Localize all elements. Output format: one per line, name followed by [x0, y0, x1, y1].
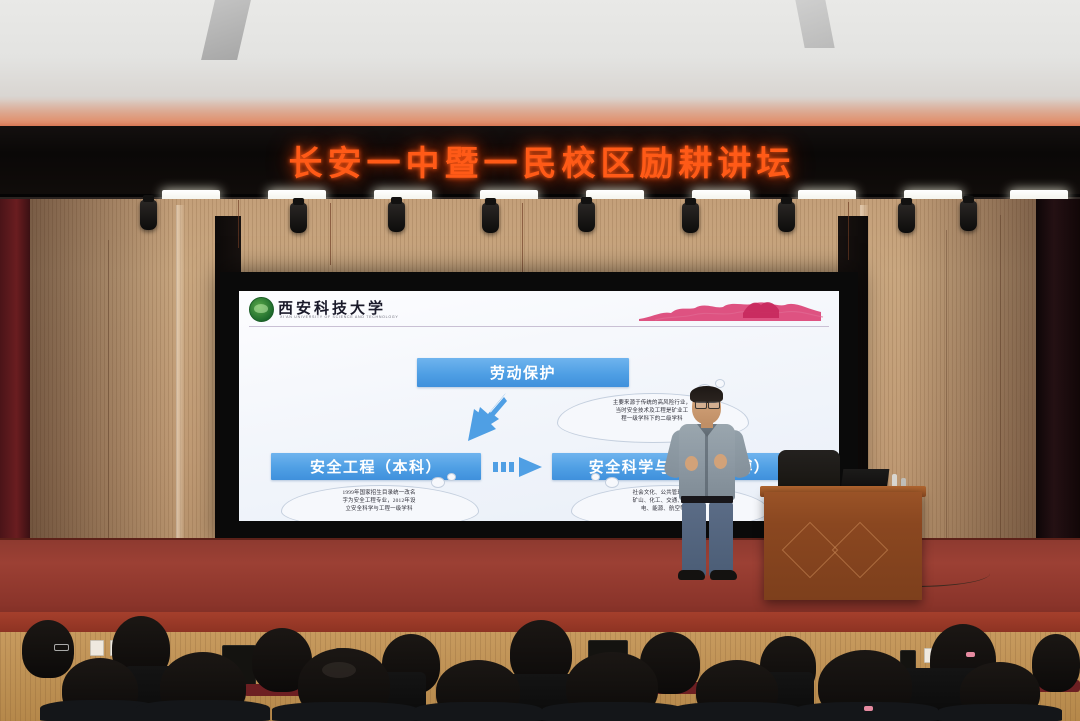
presentation-slide: 西安科技大学 XI'AN UNIVERSITY OF SCIENCE AND T…	[239, 291, 839, 521]
callout-line: 字为安全工程专业，2012年设	[291, 498, 467, 506]
eyeglasses-icon	[708, 401, 720, 409]
led-banner: 长安一中暨一民校区励耕讲坛	[0, 126, 1080, 197]
callout-lower-left: 1999年国家招生目录统一改名 字为安全工程专业，2012年设 立安全科学与工程…	[281, 485, 477, 521]
ceiling-light-glow	[0, 96, 1080, 130]
ceiling-vent-icon	[201, 0, 251, 60]
speaker-shirt-placket	[705, 432, 708, 498]
header-divider	[249, 326, 829, 327]
speaker-hand-left	[685, 456, 698, 471]
university-subtitle: XI'AN UNIVERSITY OF SCIENCE AND TECHNOLO…	[280, 315, 398, 319]
ceiling-vent-icon	[795, 0, 834, 48]
wall-switch-plate	[90, 640, 104, 656]
down-left-arrow-icon	[460, 391, 512, 447]
audience-head	[1032, 634, 1080, 692]
audience-shoulders	[136, 700, 270, 721]
audience-shoulders	[672, 702, 802, 721]
mountain-decoration-icon	[635, 297, 825, 325]
led-banner-text: 长安一中暨一民校区励耕讲坛	[289, 136, 796, 185]
speaker-shoe-left	[678, 570, 705, 580]
eyeglasses-icon	[54, 644, 69, 651]
audience-shoulders	[542, 702, 684, 721]
speaker-leg-left	[682, 502, 706, 576]
chevron-right-arrow-icon	[492, 456, 548, 478]
speaker-hand-right	[714, 454, 727, 469]
university-logo-icon	[249, 297, 274, 322]
audience-shoulders	[272, 702, 418, 721]
audience-shoulders	[414, 702, 542, 721]
slide-header: 西安科技大学 XI'AN UNIVERSITY OF SCIENCE AND T…	[239, 291, 839, 325]
audience-shoulders	[794, 702, 938, 721]
speaker-belt	[681, 496, 733, 503]
speaker-leg-right	[709, 502, 733, 576]
callout-lower-right: 社会文化、公共管理等领域， 矿山、化工、交通、建筑、机 电、能源、航空等行业	[571, 485, 767, 521]
hair-clip-icon	[864, 706, 873, 711]
lecture-hall-photo: 长安一中暨一民校区励耕讲坛	[0, 0, 1080, 721]
speaker-shoe-right	[710, 570, 737, 580]
callout-line: 1999年国家招生目录统一改名	[291, 490, 467, 498]
callout-line: 立安全科学与工程一级学科	[291, 506, 467, 514]
hair-clip-icon	[966, 652, 975, 657]
slide-box-labor-protection: 劳动保护	[417, 358, 629, 387]
audience-shoulders	[938, 704, 1062, 721]
eyeglasses-icon	[695, 401, 707, 409]
podium	[764, 492, 922, 600]
